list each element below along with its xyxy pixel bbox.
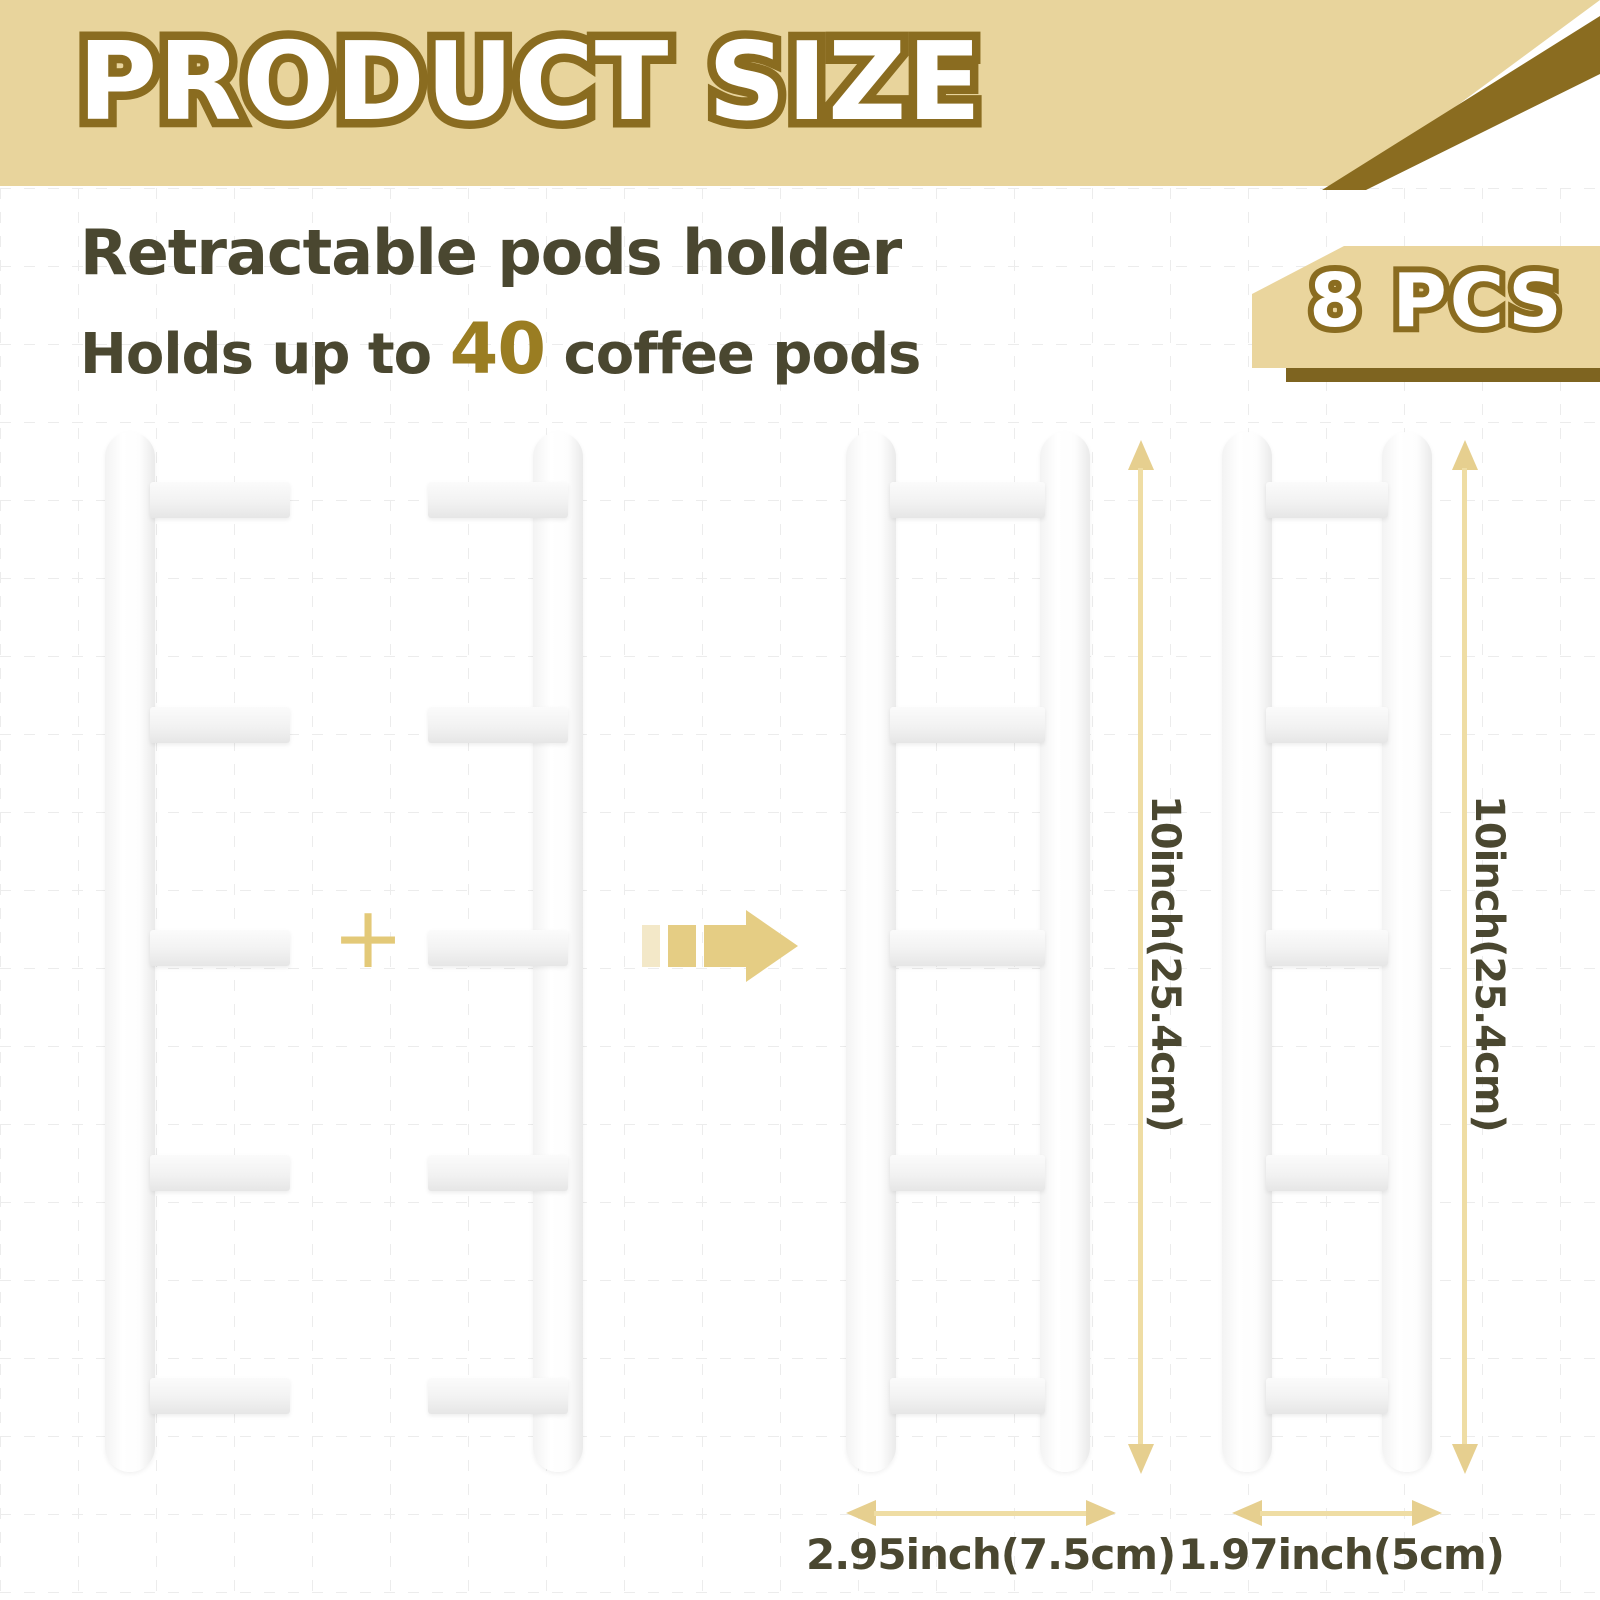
grid-line-vertical: [1092, 188, 1093, 1600]
capacity-prefix: Holds up to: [80, 322, 450, 387]
capacity-count: 40: [450, 308, 545, 390]
ladder-rung: [428, 482, 568, 518]
ladder-rail-left: [105, 432, 155, 1472]
grid-line-vertical: [312, 188, 313, 1600]
dimension-label: 2.95inch(7.5cm): [806, 1530, 1130, 1579]
ladder-rung: [890, 482, 1045, 518]
ladder-rung: [890, 707, 1045, 743]
grid-line-horizontal: [0, 1592, 1600, 1593]
grid-line-vertical: [78, 188, 79, 1600]
ladder-rung: [150, 930, 290, 966]
grid-line-vertical: [702, 188, 703, 1600]
grid-line-horizontal: [0, 890, 1600, 891]
infographic-page: PRODUCT SIZE 8 PCS Retractable pods hold…: [0, 0, 1600, 1600]
ladder-rung: [150, 1155, 290, 1191]
ladder-rung: [890, 930, 1045, 966]
ladder-rung: [428, 1155, 568, 1191]
capacity-suffix: coffee pods: [545, 322, 920, 387]
ladder-rung: [890, 1378, 1045, 1414]
ladder-rung: [1266, 707, 1388, 743]
ladder-rung: [1266, 1378, 1388, 1414]
subtitle-capacity: Holds up to 40 coffee pods: [80, 308, 920, 390]
ladder-rung: [1266, 1155, 1388, 1191]
plus-icon: +: [332, 895, 404, 981]
dimension-label: 10inch(25.4cm): [1466, 795, 1512, 1132]
grid-line-vertical: [780, 188, 781, 1600]
grid-line-vertical: [624, 188, 625, 1600]
ladder-rung: [150, 482, 290, 518]
ladder-rail-left: [1222, 432, 1272, 1472]
ladder-rung: [1266, 482, 1388, 518]
grid-line-horizontal: [0, 656, 1600, 657]
grid-line-horizontal: [0, 812, 1600, 813]
ladder-rail-right: [1382, 432, 1432, 1472]
ladder-rung: [150, 707, 290, 743]
grid-line-horizontal: [0, 1436, 1600, 1437]
page-title: PRODUCT SIZE: [78, 24, 982, 143]
grid-line-vertical: [1560, 188, 1561, 1600]
ladder-rung: [428, 930, 568, 966]
grid-line-horizontal: [0, 1358, 1600, 1359]
grid-line-horizontal: [0, 1202, 1600, 1203]
ladder-rail-left: [846, 432, 896, 1472]
grid-line-horizontal: [0, 578, 1600, 579]
dimension-label: 10inch(25.4cm): [1142, 795, 1188, 1132]
ladder-rung: [1266, 930, 1388, 966]
dimension-label: 1.97inch(5cm): [1178, 1530, 1502, 1579]
ladder-rung: [150, 1378, 290, 1414]
ladder-rung: [428, 1378, 568, 1414]
grid-line-horizontal: [0, 1046, 1600, 1047]
grid-line-horizontal: [0, 1280, 1600, 1281]
ladder-rung: [428, 707, 568, 743]
grid-line-horizontal: [0, 422, 1600, 423]
subtitle-product-name: Retractable pods holder: [80, 216, 901, 289]
grid-line-horizontal: [0, 1124, 1600, 1125]
ladder-rail-right: [1040, 432, 1090, 1472]
grid-line-vertical: [0, 188, 1, 1600]
pcs-badge-label: 8 PCS: [1272, 258, 1600, 344]
grid-line-horizontal: [0, 968, 1600, 969]
ladder-rung: [890, 1155, 1045, 1191]
